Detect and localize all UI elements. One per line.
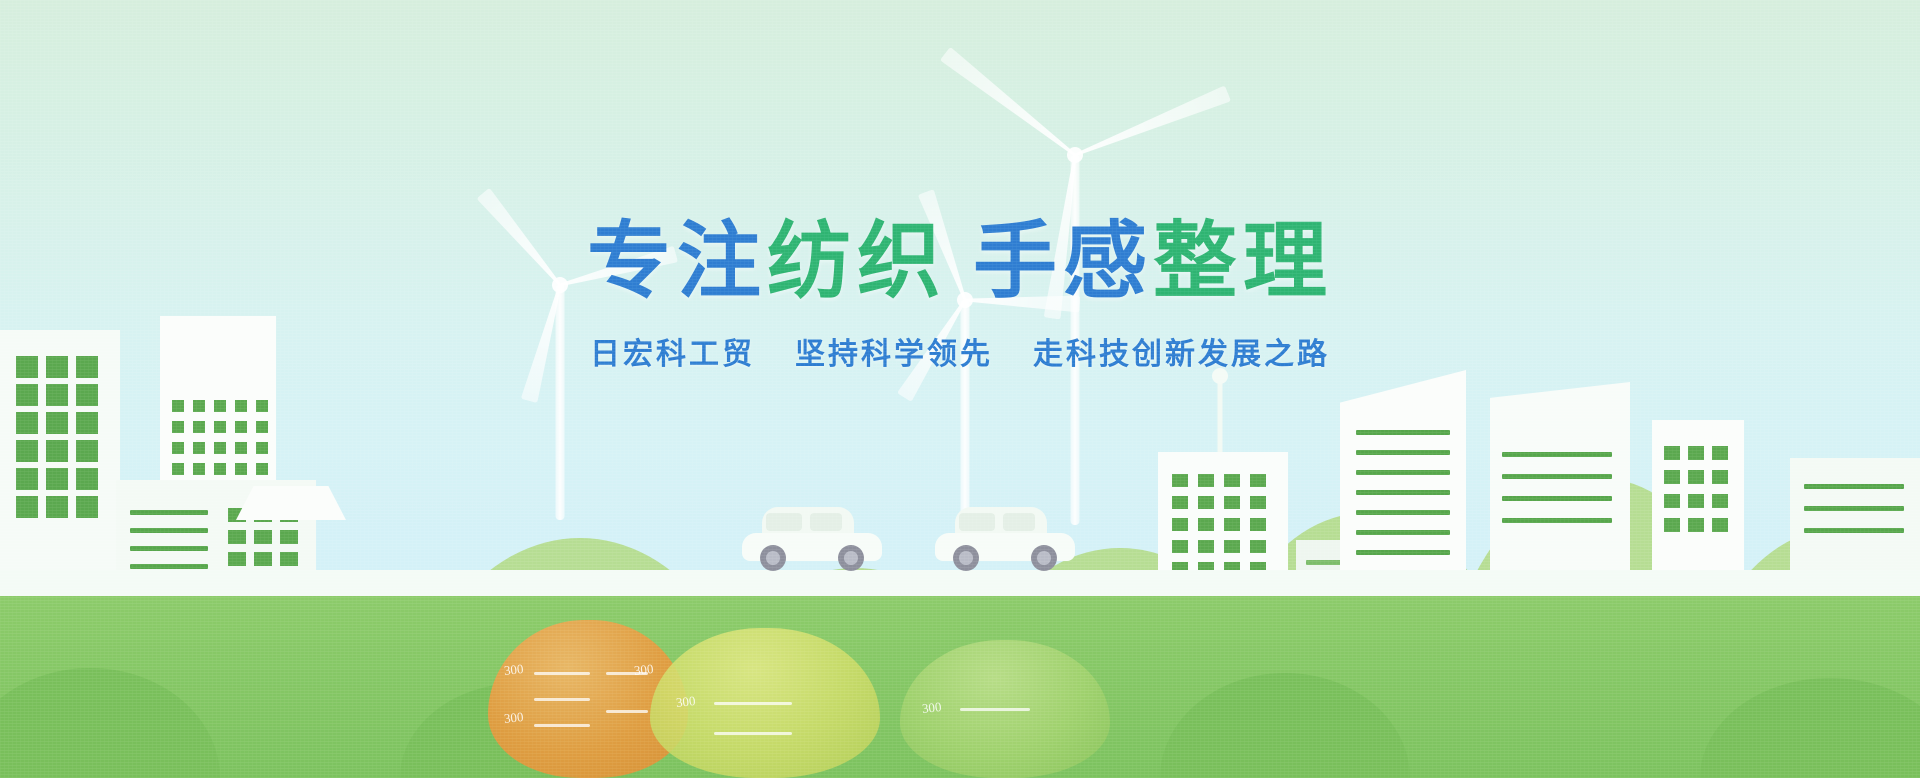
car-wheel	[838, 545, 864, 571]
car-window	[1003, 513, 1035, 531]
car-icon	[742, 495, 882, 571]
car-wheel	[760, 545, 786, 571]
headline-segment-2: 纺织	[767, 214, 947, 308]
headline-segment-1: 专注	[587, 214, 767, 308]
car-icon	[935, 495, 1075, 571]
headline-segment-3: 手感	[973, 214, 1153, 308]
subtitle-part-3: 走科技创新发展之路	[1033, 338, 1330, 371]
subtitle-part-1: 日宏科工贸	[590, 338, 755, 371]
turbine-blade	[940, 47, 1080, 162]
road-marking	[0, 570, 1920, 596]
car-wheel	[953, 545, 979, 571]
hero-banner: 300 300 300 300 300	[0, 0, 1920, 778]
car-window	[766, 513, 802, 531]
flask-tick-label: 300	[503, 661, 524, 679]
turbine-blade	[1072, 85, 1231, 163]
headline-segment-4: 整理	[1153, 214, 1333, 308]
flask-tick-label: 300	[675, 693, 696, 711]
page-subtitle: 日宏科工贸坚持科学领先走科技创新发展之路	[0, 329, 1920, 373]
car-wheel	[1031, 545, 1057, 571]
laboratory-flask-green: 300	[900, 640, 1110, 778]
building-left-roof	[236, 486, 346, 520]
flask-tick-label: 300	[503, 709, 524, 727]
flask-tick-label: 300	[921, 699, 942, 717]
car-window	[810, 513, 842, 531]
car-window	[959, 513, 995, 531]
page-title: 专注纺织手感整理	[0, 215, 1920, 307]
hero-text-block: 专注纺织手感整理 日宏科工贸坚持科学领先走科技创新发展之路	[0, 215, 1920, 373]
subtitle-part-2: 坚持科学领先	[795, 338, 993, 371]
laboratory-flask-yellow: 300	[650, 628, 880, 778]
